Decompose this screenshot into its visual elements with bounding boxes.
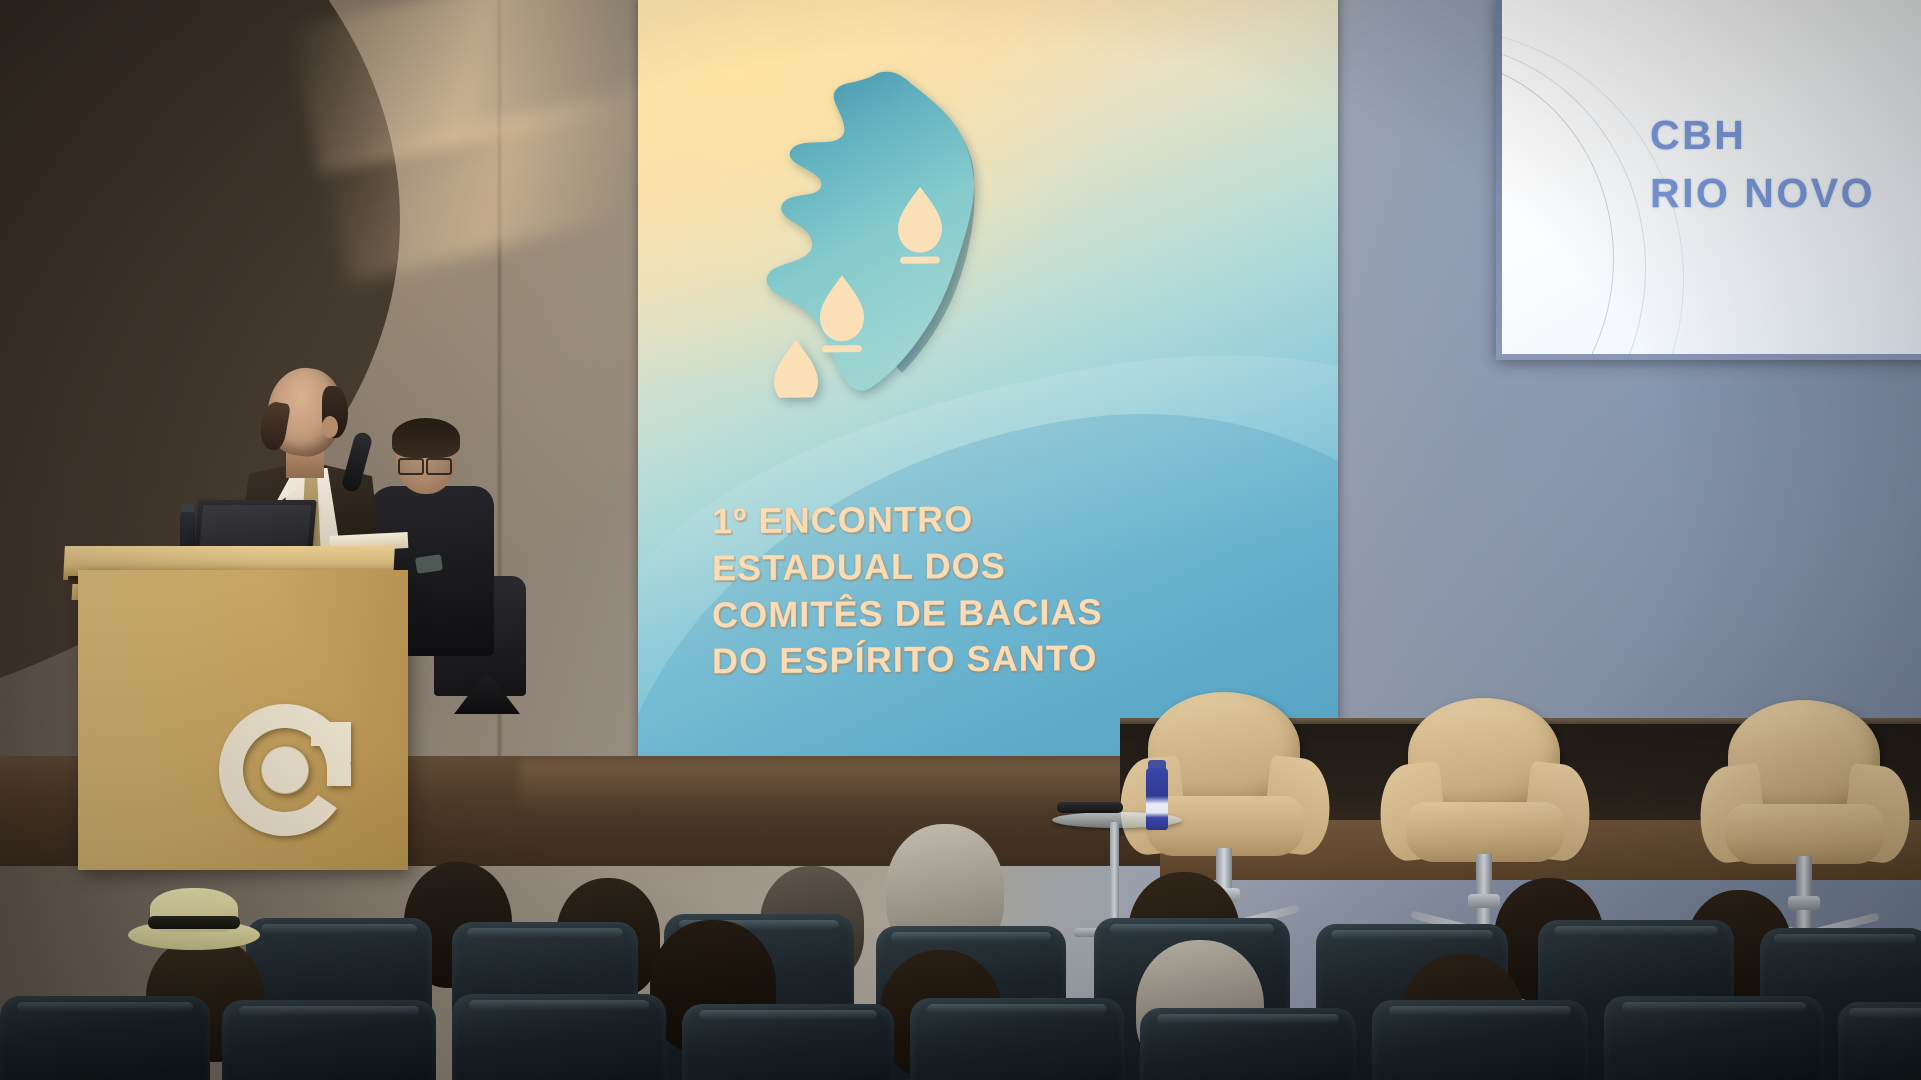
speaker-ear <box>322 416 338 438</box>
chair-seat <box>1726 804 1884 864</box>
banner-title: 1º ENCONTRO ESTADUAL DOS COMITÊS DE BACI… <box>712 493 1312 685</box>
audience-seat-front <box>0 996 210 1080</box>
audience-seat-front <box>1372 1000 1588 1080</box>
audience-seat-front <box>1140 1008 1356 1080</box>
projection-screen-frame: CBH RIO NOVO <box>1496 0 1921 360</box>
glasses-lens-left <box>398 458 424 475</box>
banner-title-line-2: ESTADUAL DOS <box>712 540 1312 592</box>
audience-seat-front <box>452 994 666 1080</box>
projection-screen: CBH RIO NOVO <box>1502 0 1921 354</box>
audience-seat-front <box>910 998 1124 1080</box>
podium-emblem-icon <box>215 700 355 840</box>
audience-seat-front <box>682 1004 894 1080</box>
slide-title: CBH RIO NOVO <box>1650 106 1875 222</box>
chair-seat <box>1146 796 1304 856</box>
audience-seat-front <box>1604 996 1824 1080</box>
glasses-lens-right <box>426 458 452 475</box>
hat-band <box>148 916 240 929</box>
slide-line-2: RIO NOVO <box>1650 164 1875 222</box>
remote-control <box>1057 802 1123 813</box>
screenshot-root: CBH RIO NOVO <box>0 0 1921 1080</box>
slide-line-1: CBH <box>1650 106 1875 164</box>
banner-title-line-3: COMITÊS DE BACIAS <box>712 587 1312 639</box>
espirito-santo-map-icon <box>750 66 1010 398</box>
audience-seat-front <box>222 1000 436 1080</box>
banner-title-line-1: 1º ENCONTRO <box>712 493 1312 545</box>
technician-hair <box>392 418 460 458</box>
audience-area <box>0 900 1921 1080</box>
event-banner: 1º ENCONTRO ESTADUAL DOS COMITÊS DE BACI… <box>638 0 1338 769</box>
water-bottle <box>1146 768 1168 830</box>
chair-seat <box>1406 802 1564 862</box>
panama-hat <box>128 888 260 950</box>
audience-seat-front <box>1838 1002 1921 1080</box>
banner-title-line-4: DO ESPÍRITO SANTO <box>712 634 1312 686</box>
